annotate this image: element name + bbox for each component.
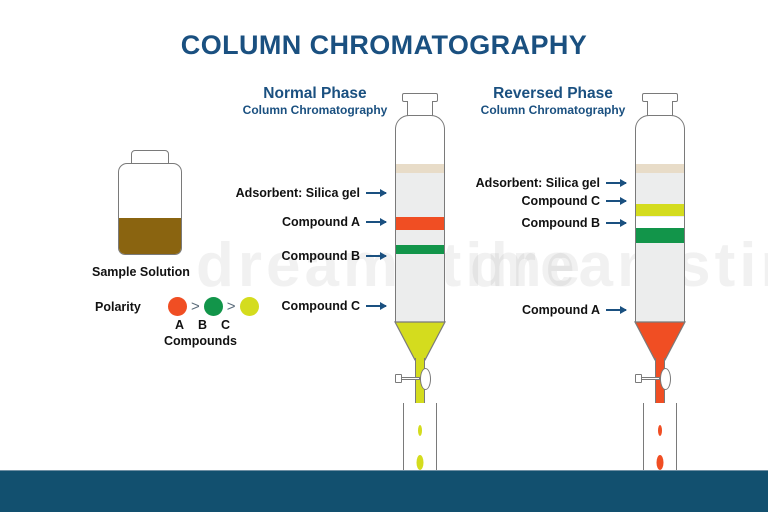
normal-arrow-adsorbent: [366, 192, 386, 194]
reversed-phase-heading: Reversed Phase Column Chromatography: [443, 84, 663, 118]
watermark-text: dreamstime: [196, 230, 584, 301]
band-compound-b: [396, 245, 444, 254]
stopcock-knob-icon[interactable]: [395, 374, 402, 383]
reversed-arrow-adsorbent: [606, 182, 626, 184]
stopcock-wheel-icon[interactable]: [420, 368, 431, 390]
stopcock-knob-icon[interactable]: [635, 374, 642, 383]
reversed-phase-heading-line1: Reversed Phase: [443, 84, 663, 103]
normal-arrow-compound-c: [366, 305, 386, 307]
bottle-cap-icon: [131, 150, 169, 164]
watermark-text: dreamstime: [470, 230, 768, 301]
polarity-letter-b: B: [191, 318, 214, 332]
adsorbent-layer-lower: [636, 243, 684, 323]
diagram-canvas: dreamstime dreamstime COLUMN CHROMATOGRA…: [0, 0, 768, 512]
page-title: COLUMN CHROMATOGRAPHY: [0, 30, 768, 61]
reversed-arrow-compound-c: [606, 200, 626, 202]
column-funnel: [635, 322, 685, 360]
sand-layer: [636, 164, 684, 173]
sample-solution-label: Sample Solution: [92, 265, 190, 279]
normal-phase-heading-line2: Column Chromatography: [205, 103, 425, 118]
band-compound-c: [636, 204, 684, 216]
column-funnel: [395, 322, 445, 360]
sand-layer: [396, 164, 444, 173]
eluent-drip: [658, 425, 662, 436]
stopcock-wheel-icon[interactable]: [660, 368, 671, 390]
polarity-letter-c: C: [214, 318, 237, 332]
eluent-drip: [417, 455, 424, 470]
normal-label-compound-c: Compound C: [145, 299, 360, 313]
polarity-letters: A B C: [168, 318, 259, 332]
normal-arrow-compound-a: [366, 221, 386, 223]
normal-label-adsorbent: Adsorbent: Silica gel: [145, 186, 360, 200]
column-barrel: [395, 115, 445, 323]
polarity-letter-a: A: [168, 318, 191, 332]
adsorbent-layer-lower: [396, 254, 444, 323]
normal-label-compound-b: Compound B: [145, 249, 360, 263]
eluent-drip: [657, 455, 664, 470]
band-compound-b: [636, 228, 684, 243]
compounds-label: Compounds: [164, 334, 237, 348]
band-compound-a: [396, 217, 444, 230]
adsorbent-layer-upper: [396, 173, 444, 245]
normal-phase-heading: Normal Phase Column Chromatography: [205, 84, 425, 118]
sample-bottle: [118, 150, 182, 255]
normal-label-compound-a: Compound A: [145, 215, 360, 229]
reversed-arrow-compound-b: [606, 222, 626, 224]
reversed-phase-heading-line2: Column Chromatography: [443, 103, 663, 118]
polarity-label: Polarity: [95, 300, 141, 314]
column-barrel: [635, 115, 685, 323]
normal-phase-heading-line1: Normal Phase: [205, 84, 425, 103]
reversed-arrow-compound-a: [606, 309, 626, 311]
normal-arrow-compound-b: [366, 255, 386, 257]
footer-bar: [0, 470, 768, 512]
eluent-drip: [418, 425, 422, 436]
bottle-body: [118, 163, 182, 255]
